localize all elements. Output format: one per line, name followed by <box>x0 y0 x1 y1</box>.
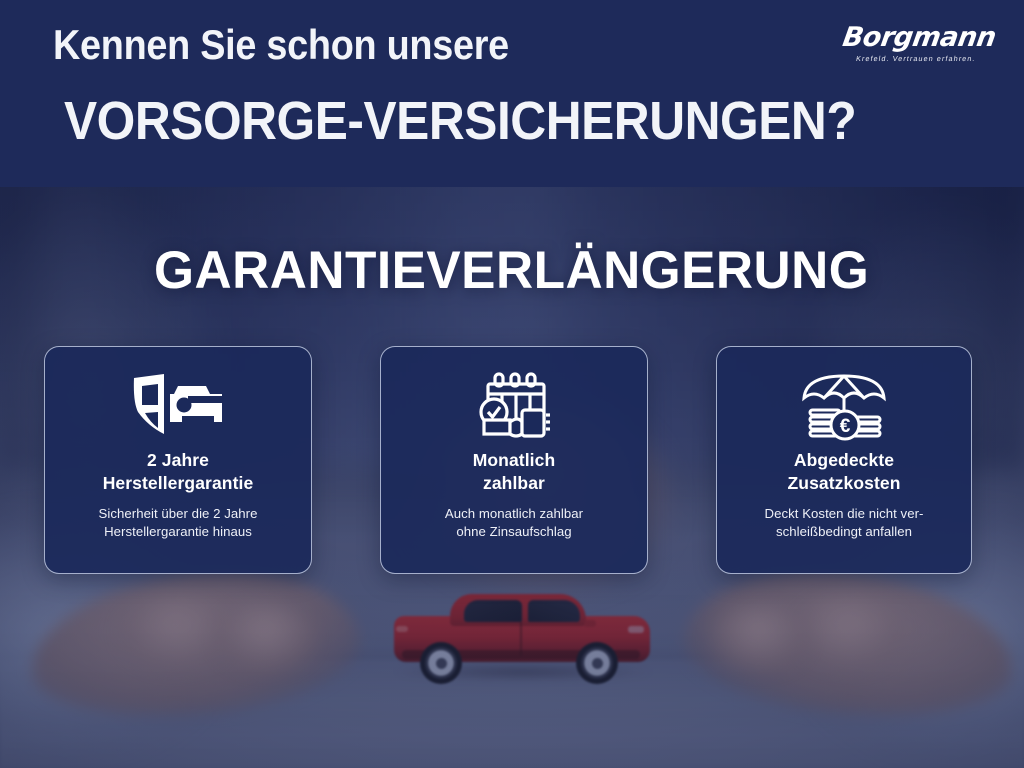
page-title-text: GARANTIEVERLÄNGERUNG <box>154 240 869 301</box>
logo-wordmark: Borgmann <box>841 24 981 51</box>
feature-card-monatlich-zahlbar[interactable]: Monatlich zahlbar Auch monatlich zahlbar… <box>380 346 648 574</box>
header-band: Kennen Sie schon unsere VORSORGE-VERSICH… <box>0 0 1024 187</box>
card-description: Sicherheit über die 2 Jahre Herstellerga… <box>99 505 258 542</box>
feature-card-zusatzkosten[interactable]: € Abgedeckte Zusatzkosten Deckt Kosten d… <box>716 346 972 574</box>
card-title: 2 Jahre Herstellergarantie <box>103 449 254 496</box>
card-title-line2: zahlbar <box>473 472 556 495</box>
umbrella-euro-coins-icon: € <box>794 369 894 443</box>
calendar-check-money-icon <box>466 369 562 443</box>
card-title: Monatlich zahlbar <box>473 449 556 496</box>
feature-card-list: 2 Jahre Herstellergarantie Sicherheit üb… <box>0 346 1024 578</box>
card-desc-line1: Auch monatlich zahlbar <box>445 505 583 524</box>
card-desc-line2: ohne Zinsaufschlag <box>445 523 583 542</box>
card-title-line1: Abgedeckte <box>787 449 900 472</box>
card-description: Auch monatlich zahlbar ohne Zinsaufschla… <box>445 505 583 542</box>
promo-banner: Kennen Sie schon unsere VORSORGE-VERSICH… <box>0 0 1024 768</box>
card-desc-line1: Deckt Kosten die nicht ver- <box>765 505 924 524</box>
svg-text:€: € <box>840 416 851 437</box>
card-description: Deckt Kosten die nicht ver- schleißbedin… <box>765 505 924 542</box>
card-desc-line2: Herstellergarantie hinaus <box>99 523 258 542</box>
shield-car-icon <box>126 369 230 443</box>
card-title-line2: Zusatzkosten <box>787 472 900 495</box>
card-desc-line1: Sicherheit über die 2 Jahre <box>99 505 258 524</box>
borgmann-logo[interactable]: Borgmann Krefeld. Vertrauen erfahren. <box>839 24 981 63</box>
page-title: GARANTIEVERLÄNGERUNG <box>0 240 1024 301</box>
card-title-line2: Herstellergarantie <box>103 472 254 495</box>
card-title-line1: Monatlich <box>473 449 556 472</box>
feature-card-herstellergarantie[interactable]: 2 Jahre Herstellergarantie Sicherheit üb… <box>44 346 312 574</box>
card-title-line1: 2 Jahre <box>103 449 254 472</box>
header-headline: VORSORGE-VERSICHERUNGEN? <box>64 90 856 152</box>
header-subtitle: Kennen Sie schon unsere <box>53 21 509 69</box>
logo-tagline: Krefeld. Vertrauen erfahren. <box>839 54 976 63</box>
card-desc-line2: schleißbedingt anfallen <box>765 523 924 542</box>
card-title: Abgedeckte Zusatzkosten <box>787 449 900 496</box>
